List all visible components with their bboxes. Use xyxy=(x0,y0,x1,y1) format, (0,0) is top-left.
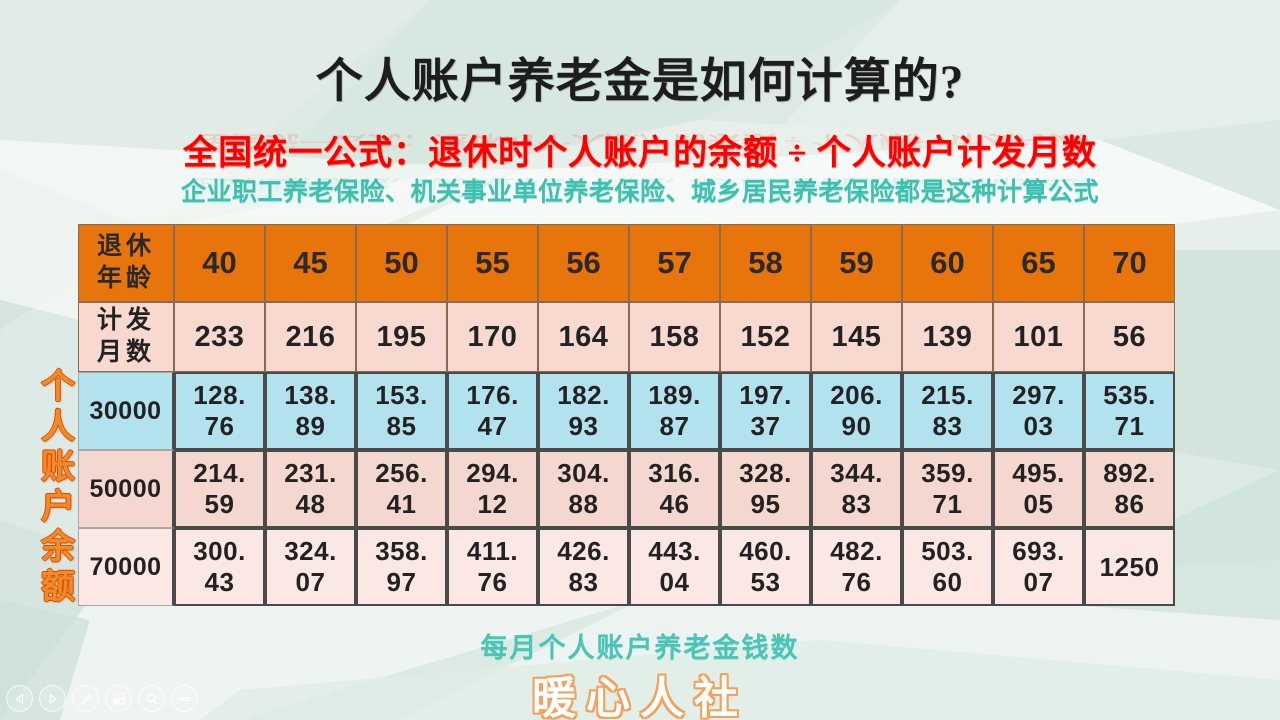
pension-cell: 693. 07 xyxy=(993,528,1084,606)
search-icon xyxy=(145,692,159,706)
zoom-button[interactable] xyxy=(138,685,165,712)
pension-cell: 316. 46 xyxy=(629,450,720,528)
pension-cell: 358. 97 xyxy=(356,528,447,606)
age-cell: 45 xyxy=(265,224,356,302)
table-row-retirement-age: 退休 年龄 40 45 50 55 56 57 58 59 60 65 70 xyxy=(78,224,1175,302)
age-cell: 50 xyxy=(356,224,447,302)
next-button[interactable] xyxy=(39,685,66,712)
table-row: 70000 300. 43 324. 07 358. 97 411. 76 42… xyxy=(78,528,1175,606)
months-cell: 152 xyxy=(720,302,811,372)
age-cell: 58 xyxy=(720,224,811,302)
age-cell: 70 xyxy=(1084,224,1175,302)
age-cell: 60 xyxy=(902,224,993,302)
pension-cell: 197. 37 xyxy=(720,372,811,450)
months-cell: 233 xyxy=(174,302,265,372)
page-title: 个人账户养老金是如何计算的? xyxy=(0,42,1280,111)
table-row: 50000 214. 59 231. 48 256. 41 294. 12 30… xyxy=(78,450,1175,528)
row-header-payout-months: 计发 月数 xyxy=(78,302,174,372)
pension-cell: 411. 76 xyxy=(447,528,538,606)
age-cell: 56 xyxy=(538,224,629,302)
formula-line: 全国统一公式：退休时个人账户的余额 ÷ 个人账户计发月数 全国统一公式：退休时个… xyxy=(0,125,1280,174)
slide-canvas: 个人账户养老金是如何计算的? 全国统一公式：退休时个人账户的余额 ÷ 个人账户计… xyxy=(0,0,1280,720)
pen-button[interactable] xyxy=(72,685,99,712)
months-cell: 170 xyxy=(447,302,538,372)
pen-icon xyxy=(79,692,93,706)
pension-cell: 182. 93 xyxy=(538,372,629,450)
bottom-caption: 每月个人账户养老金钱数 xyxy=(0,626,1280,665)
months-cell: 164 xyxy=(538,302,629,372)
pension-cell: 426. 83 xyxy=(538,528,629,606)
age-cell: 65 xyxy=(993,224,1084,302)
pension-cell: 189. 87 xyxy=(629,372,720,450)
pension-cell: 214. 59 xyxy=(174,450,265,528)
pension-cell: 328. 95 xyxy=(720,450,811,528)
months-cell: 195 xyxy=(356,302,447,372)
pension-cell: 892. 86 xyxy=(1084,450,1175,528)
pension-cell: 482. 76 xyxy=(811,528,902,606)
ellipsis-icon xyxy=(177,695,193,703)
balance-label: 70000 xyxy=(78,528,174,606)
pension-cell: 300. 43 xyxy=(174,528,265,606)
balance-label: 30000 xyxy=(78,372,174,450)
row-header-line2: 年龄 xyxy=(79,263,173,295)
pension-cell: 443. 04 xyxy=(629,528,720,606)
pension-cell: 231. 48 xyxy=(265,450,356,528)
age-cell: 57 xyxy=(629,224,720,302)
player-toolbar xyxy=(6,685,198,712)
pension-cell: 215. 83 xyxy=(902,372,993,450)
age-cell: 55 xyxy=(447,224,538,302)
subtitle-line: 企业职工养老保险、机关事业单位养老保险、城乡居民养老保险都是这种计算公式 企业职… xyxy=(0,172,1280,208)
triangle-right-icon xyxy=(47,693,59,705)
table-row: 30000 128. 76 138. 89 153. 85 176. 47 18… xyxy=(78,372,1175,450)
pension-cell: 138. 89 xyxy=(265,372,356,450)
pension-cell: 153. 85 xyxy=(356,372,447,450)
pension-cell: 495. 05 xyxy=(993,450,1084,528)
formula-text: 全国统一公式：退休时个人账户的余额 ÷ 个人账户计发月数 xyxy=(183,125,1097,174)
pension-cell: 256. 41 xyxy=(356,450,447,528)
more-button[interactable] xyxy=(171,685,198,712)
months-cell: 145 xyxy=(811,302,902,372)
months-cell: 216 xyxy=(265,302,356,372)
pension-cell: 503. 60 xyxy=(902,528,993,606)
previous-button[interactable] xyxy=(6,685,33,712)
balance-label: 50000 xyxy=(78,450,174,528)
row-header-line2: 月数 xyxy=(79,337,173,369)
pension-cell: 294. 12 xyxy=(447,450,538,528)
age-cell: 40 xyxy=(174,224,265,302)
pension-table: 退休 年龄 40 45 50 55 56 57 58 59 60 65 70 xyxy=(78,224,1175,606)
grid-icon xyxy=(112,692,126,706)
pension-cell: 304. 88 xyxy=(538,450,629,528)
caption-text: 每月个人账户养老金钱数 xyxy=(481,626,800,665)
pension-cell: 460. 53 xyxy=(720,528,811,606)
months-cell: 139 xyxy=(902,302,993,372)
row-header-retirement-age: 退休 年龄 xyxy=(78,224,174,302)
row-header-line1: 退休 xyxy=(79,231,173,263)
pension-cell: 535. 71 xyxy=(1084,372,1175,450)
months-cell: 158 xyxy=(629,302,720,372)
pension-cell: 206. 90 xyxy=(811,372,902,450)
table-row-payout-months: 计发 月数 233 216 195 170 164 158 152 145 13… xyxy=(78,302,1175,372)
subtitle-text: 企业职工养老保险、机关事业单位养老保险、城乡居民养老保险都是这种计算公式 xyxy=(181,172,1099,208)
pension-table-wrapper: 退休 年龄 40 45 50 55 56 57 58 59 60 65 70 xyxy=(78,224,1175,606)
pension-cell: 176. 47 xyxy=(447,372,538,450)
pension-cell: 297. 03 xyxy=(993,372,1084,450)
age-cell: 59 xyxy=(811,224,902,302)
triangle-left-icon xyxy=(14,693,26,705)
pension-cell: 324. 07 xyxy=(265,528,356,606)
pension-cell: 128. 76 xyxy=(174,372,265,450)
months-cell: 56 xyxy=(1084,302,1175,372)
pension-cell: 344. 83 xyxy=(811,450,902,528)
row-header-line1: 计发 xyxy=(79,305,173,337)
pension-cell: 359. 71 xyxy=(902,450,993,528)
pension-cell: 1250 xyxy=(1084,528,1175,606)
layout-button[interactable] xyxy=(105,685,132,712)
months-cell: 101 xyxy=(993,302,1084,372)
